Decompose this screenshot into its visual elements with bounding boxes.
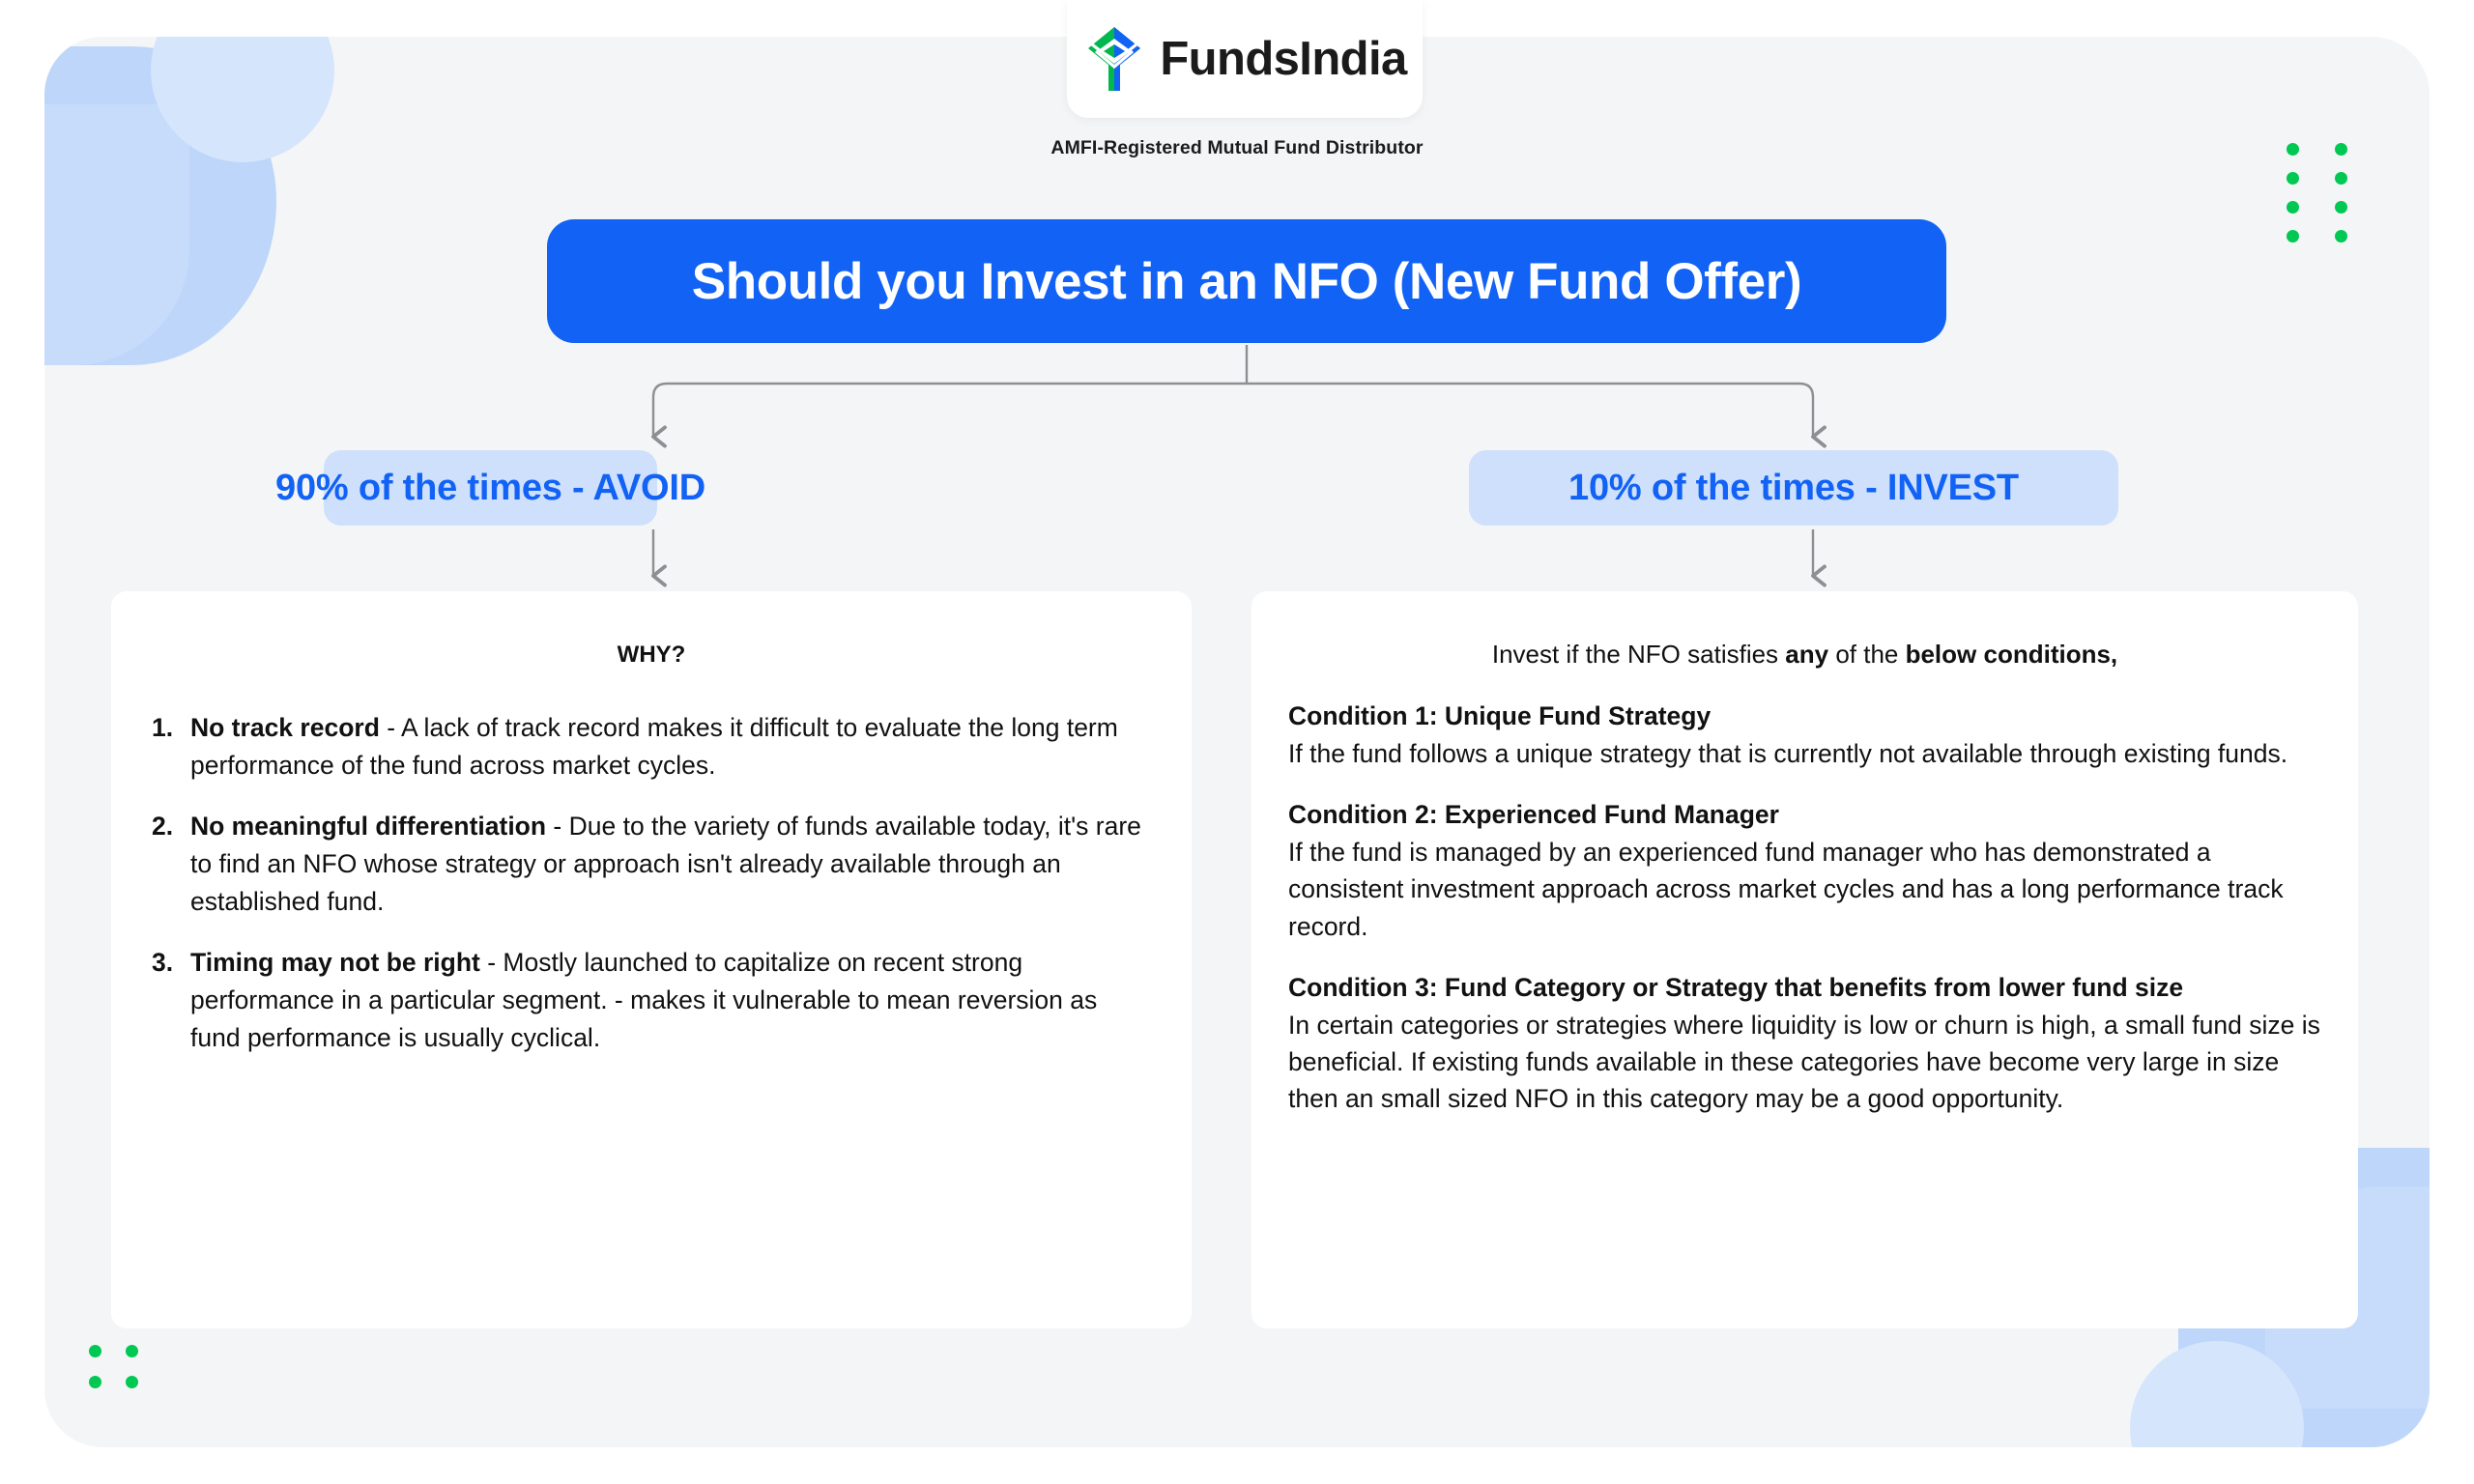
condition-block: Condition 2: Experienced Fund ManagerIf … [1288,797,2321,945]
avoid-reasons-card: WHY? 1.No track record - A lack of track… [111,591,1192,1328]
brand-tagline: AMFI-Registered Mutual Fund Distributor [0,137,2474,159]
dot-grid-right [2287,143,2383,259]
invest-conditions-card: Invest if the NFO satisfies any of the b… [1251,591,2358,1328]
dot-grid-bottom-left [89,1345,162,1407]
condition-body: If the fund follows a unique strategy th… [1288,735,2321,772]
reason-item: 1.No track record - A lack of track reco… [150,709,1145,785]
green-dot-icon [89,1376,101,1388]
condition-block: Condition 1: Unique Fund StrategyIf the … [1288,699,2321,772]
branch-pill-invest: 10% of the times - INVEST [1469,450,2118,526]
green-dot-icon [2335,172,2347,185]
green-dot-icon [126,1345,138,1357]
brand-name: FundsIndia [1160,32,1406,86]
reason-item: 2.No meaningful differentiation - Due to… [150,808,1145,921]
condition-block: Condition 3: Fund Category or Strategy t… [1288,970,2321,1118]
green-dot-icon [2287,201,2299,214]
condition-title: Condition 3: Fund Category or Strategy t… [1288,970,2321,1007]
infographic-canvas: FundsIndia AMFI-Registered Mutual Fund D… [0,0,2474,1484]
condition-title: Condition 2: Experienced Fund Manager [1288,797,2321,834]
green-dot-icon [2335,201,2347,214]
reason-number: 1. [152,709,173,747]
reason-number: 3. [152,944,173,982]
green-dot-icon [2287,230,2299,243]
condition-body: In certain categories or strategies wher… [1288,1007,2321,1118]
branch-pill-avoid: 90% of the times - AVOID [324,450,657,526]
green-dot-icon [89,1345,101,1357]
invest-intro-emphasis-conditions: below conditions, [1906,640,2118,669]
condition-title: Condition 1: Unique Fund Strategy [1288,699,2321,735]
condition-body: If the fund is managed by an experienced… [1288,834,2321,945]
invest-intro-emphasis-any: any [1785,640,1828,669]
fundsindia-tree-icon [1082,25,1146,93]
invest-condition-list: Condition 1: Unique Fund StrategyIf the … [1288,699,2321,1118]
reason-item: 3.Timing may not be right - Mostly launc… [150,944,1145,1057]
reason-number: 2. [152,808,173,845]
green-dot-icon [2335,230,2347,243]
reason-lead: No track record [190,713,380,742]
branch-pill-invest-label: 10% of the times - INVEST [1568,468,2019,509]
avoid-reason-list: 1.No track record - A lack of track reco… [150,709,1145,1057]
green-dot-icon [2287,172,2299,185]
title-banner: Should you Invest in an NFO (New Fund Of… [547,219,1946,343]
invest-intro-middle: of the [1828,640,1906,669]
reason-lead: No meaningful differentiation [190,812,546,841]
invest-intro-prefix: Invest if the NFO satisfies [1492,640,1785,669]
green-dot-icon [126,1376,138,1388]
branch-pill-avoid-label: 90% of the times - AVOID [275,468,705,509]
invest-card-intro: Invest if the NFO satisfies any of the b… [1251,591,2358,670]
reason-lead: Timing may not be right [190,948,480,977]
page-title: Should you Invest in an NFO (New Fund Of… [692,252,1801,311]
brand-logo-card: FundsIndia [1067,0,1423,118]
avoid-card-heading: WHY? [111,591,1192,669]
